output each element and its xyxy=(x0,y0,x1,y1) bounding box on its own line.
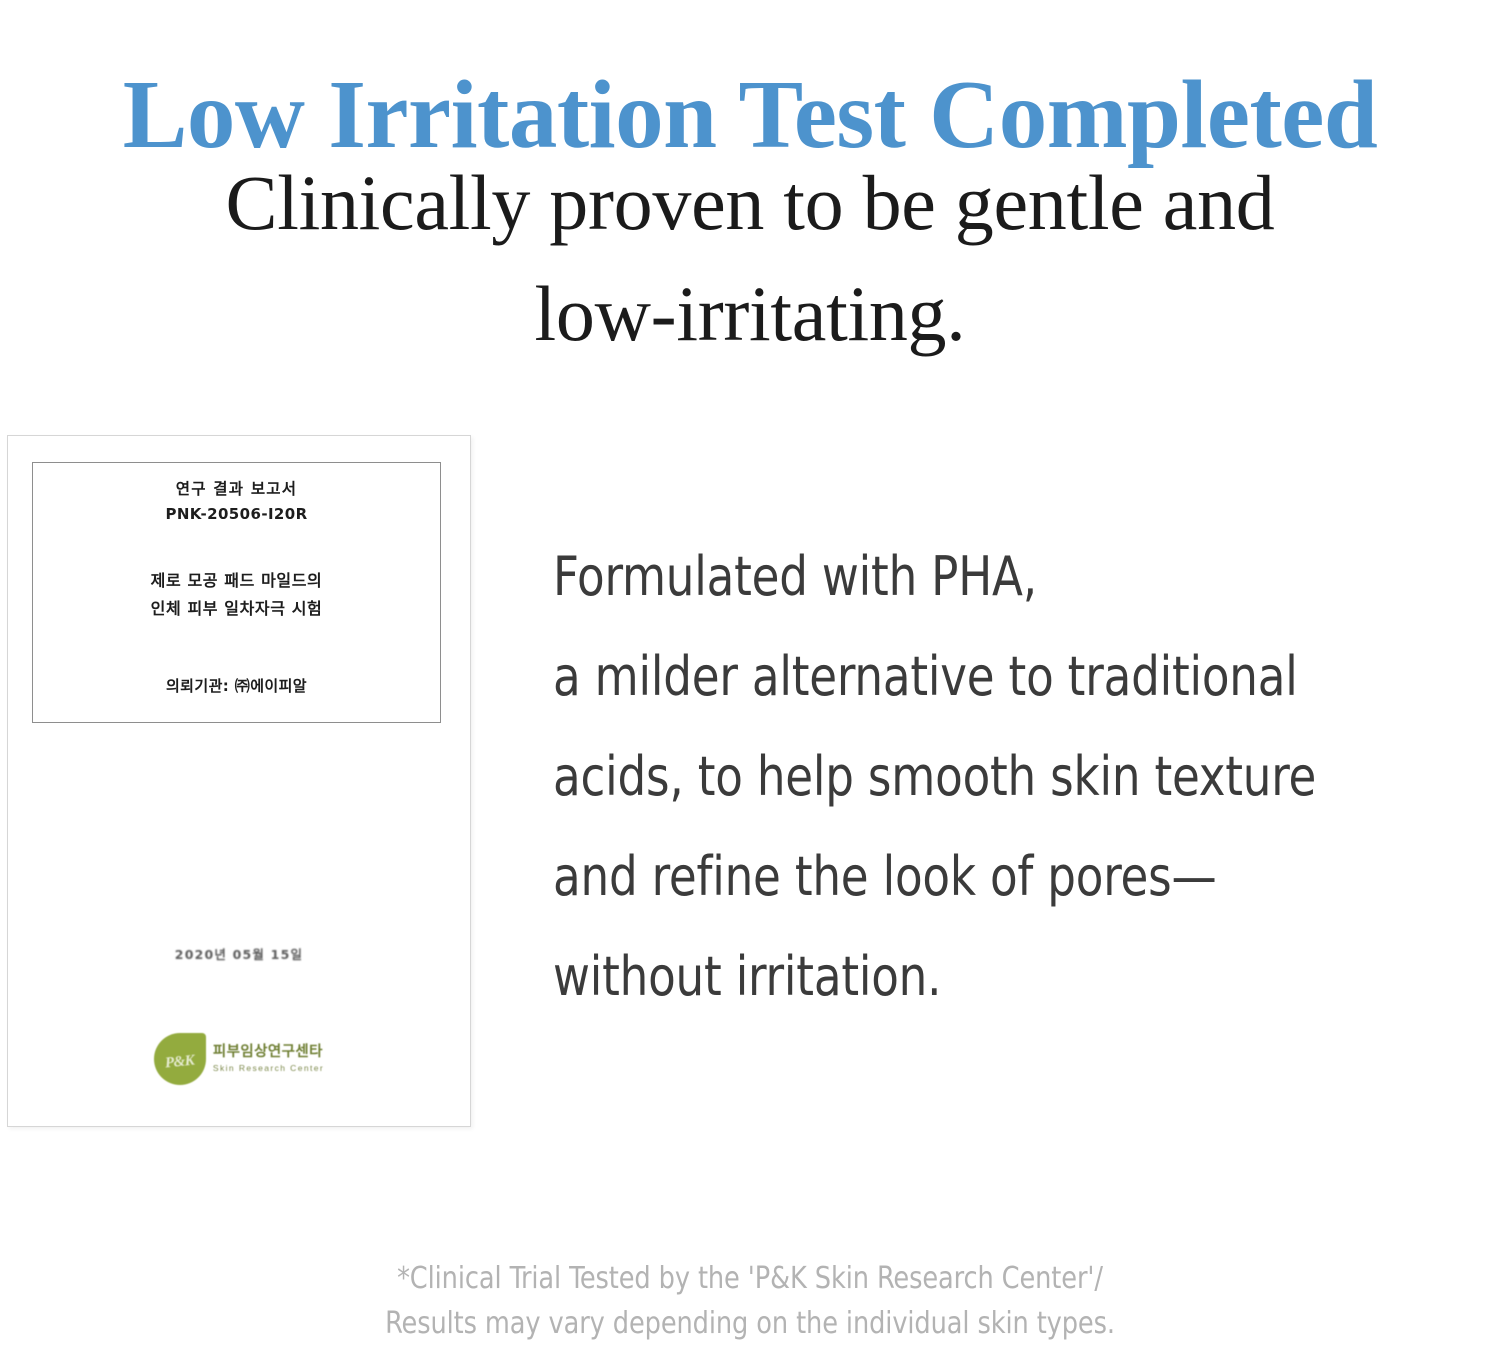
body-line-3: acids, to help smooth skin texture xyxy=(553,727,1418,827)
logo-name-kr: 피부임상연구센타 xyxy=(213,1045,324,1060)
report-subject-line-1: 제로 모공 패드 마일드의 xyxy=(33,567,440,595)
report-date: 2020년 05월 15일 xyxy=(8,944,470,963)
body-line-2: a milder alternative to traditional xyxy=(553,627,1418,727)
body-line-1: Formulated with PHA, xyxy=(553,527,1418,627)
logo-name-en: Skin Research Center xyxy=(213,1064,324,1073)
subheadline-line-1: Clinically proven to be gentle and xyxy=(0,148,1500,259)
body-line-4: and refine the look of pores— xyxy=(553,827,1418,927)
footer-line-1: *Clinical Trial Tested by the 'P&K Skin … xyxy=(38,1256,1463,1301)
page-subheadline: Clinically proven to be gentle and low-i… xyxy=(0,148,1500,370)
report-subject: 제로 모공 패드 마일드의 인체 피부 일차자극 시험 xyxy=(33,567,440,623)
pnk-logo: P&K 피부임상연구센타 Skin Research Center xyxy=(8,1028,470,1090)
report-subject-line-2: 인체 피부 일차자극 시험 xyxy=(33,595,440,623)
report-cover-box: 연구 결과 보고서 PNK-20506-I20R 제로 모공 패드 마일드의 인… xyxy=(32,462,441,723)
test-report-document: 연구 결과 보고서 PNK-20506-I20R 제로 모공 패드 마일드의 인… xyxy=(7,435,471,1127)
subheadline-line-2: low-irritating. xyxy=(0,259,1500,370)
report-code: PNK-20506-I20R xyxy=(33,505,440,523)
footer-line-2: Results may vary depending on the indivi… xyxy=(38,1301,1463,1346)
logo-wordmark: 피부임상연구센타 Skin Research Center xyxy=(213,1045,324,1072)
body-copy: Formulated with PHA, a milder alternativ… xyxy=(553,527,1418,1026)
footer-disclaimer: *Clinical Trial Tested by the 'P&K Skin … xyxy=(38,1256,1463,1346)
leaf-icon: P&K xyxy=(154,1033,206,1085)
report-title: 연구 결과 보고서 xyxy=(33,477,440,499)
body-line-5: without irritation. xyxy=(553,927,1418,1027)
logo-mark-text: P&K xyxy=(164,1052,195,1072)
report-client: 의뢰기관: ㈜에이피알 xyxy=(33,675,440,696)
